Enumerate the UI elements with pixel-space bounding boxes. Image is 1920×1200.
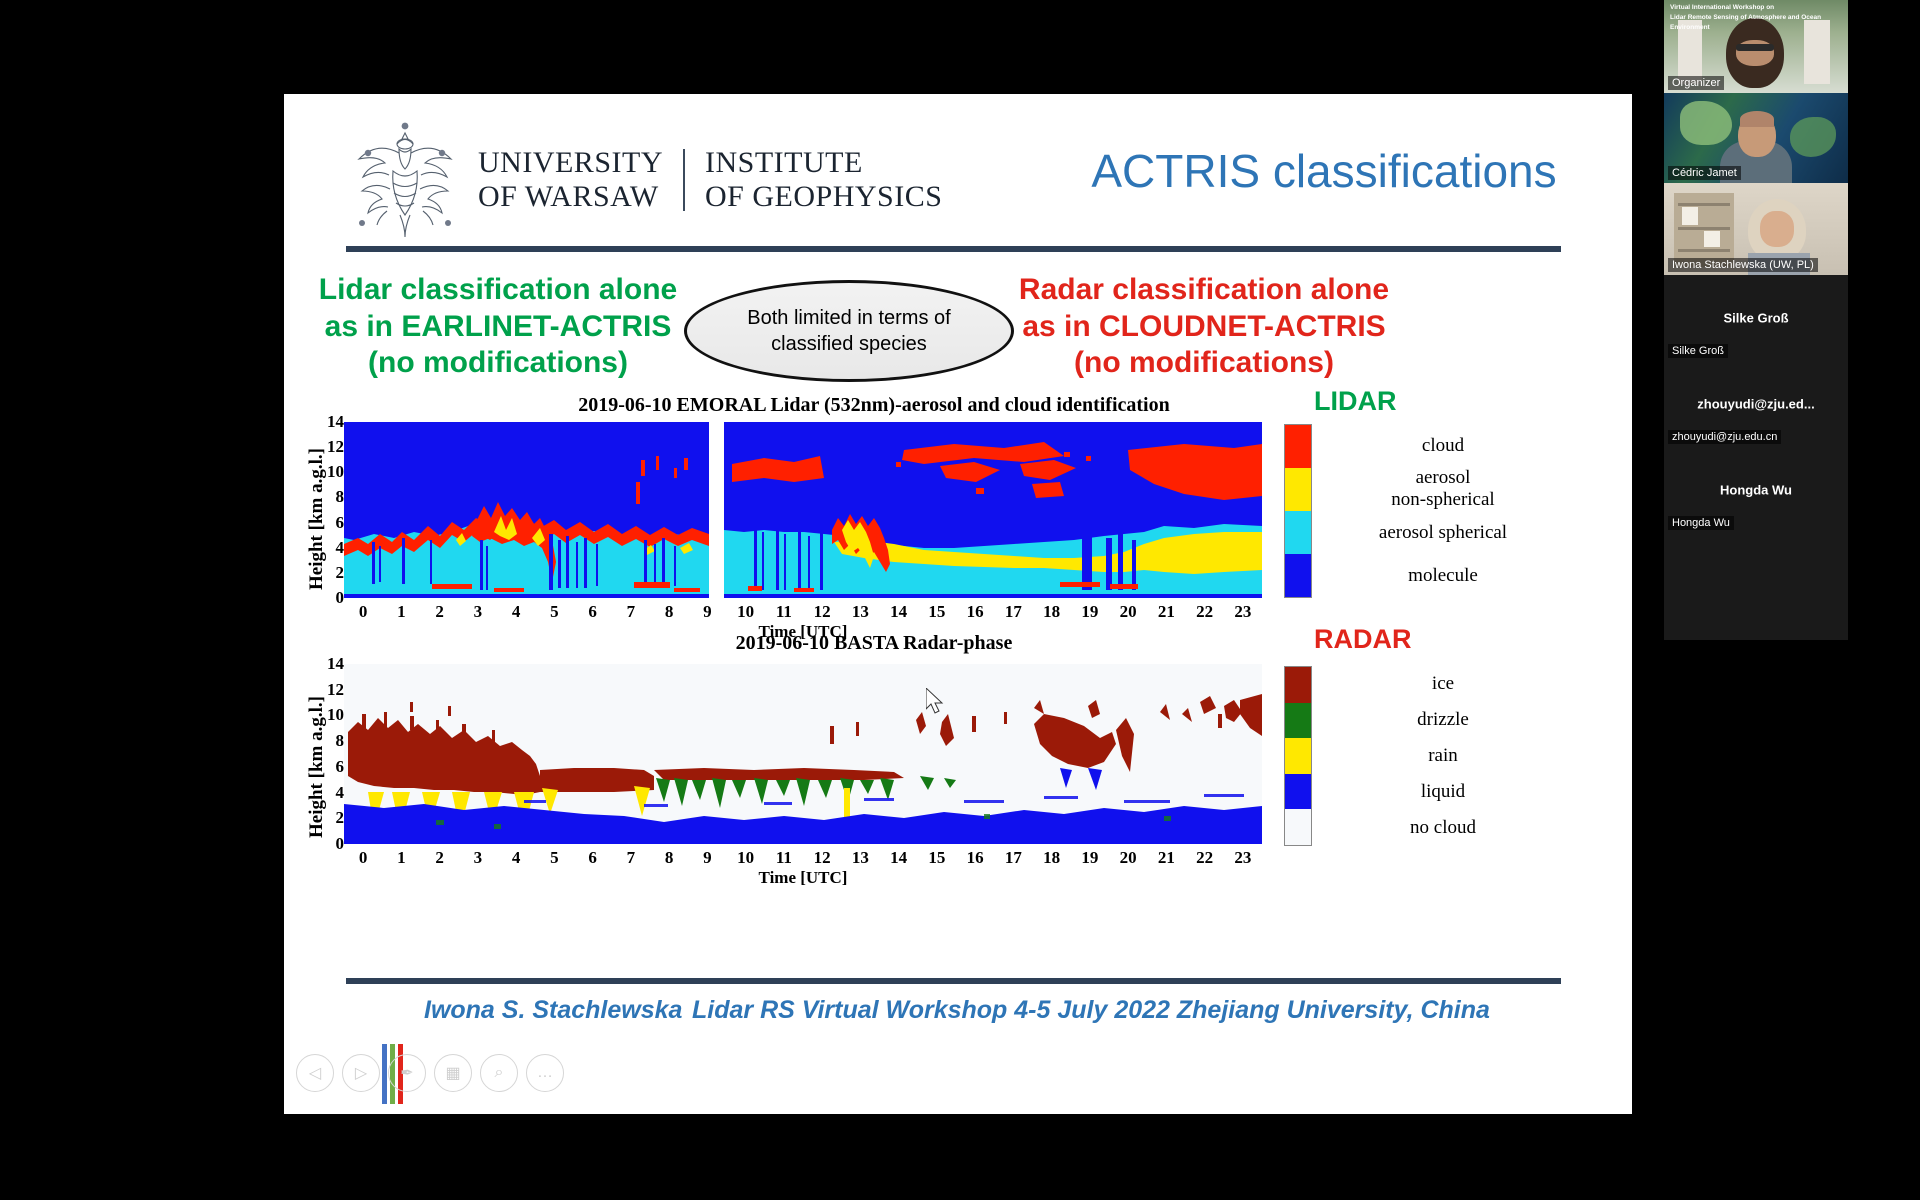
x-tick: 1 [397, 602, 406, 622]
x-tick: 22 [1196, 848, 1213, 868]
lidar-legend: cloudaerosol non-sphericalaerosol spheri… [1318, 424, 1618, 598]
y-tick: 0 [336, 834, 345, 854]
lidar-figure: 2019-06-10 EMORAL Lidar (532nm)-aerosol … [284, 394, 1632, 634]
presentation-slide[interactable]: UNIVERSITY OF WARSAW INSTITUTE OF GEOPHY… [284, 94, 1632, 1114]
colorbar-swatch [1285, 511, 1311, 554]
radar-sensor-label: RADAR [1314, 624, 1412, 655]
x-tick: 14 [890, 602, 907, 622]
x-tick: 1 [397, 848, 406, 868]
legend-label: drizzle [1318, 709, 1568, 731]
next-slide-button[interactable]: ▷ [342, 1054, 380, 1092]
video-tile-name: Organizer [1668, 76, 1724, 90]
footer-author: Iwona S. Stachlewska [424, 996, 682, 1025]
y-tick: 6 [336, 513, 345, 533]
x-tick: 7 [627, 602, 636, 622]
video-tile-center-name: Silke Groß [1664, 311, 1848, 326]
header-rule [346, 246, 1561, 252]
x-tick: 9 [703, 848, 712, 868]
colorbar-swatch [1285, 468, 1311, 511]
x-tick: 4 [512, 602, 521, 622]
x-tick: 23 [1234, 848, 1251, 868]
legend-label: molecule [1318, 565, 1568, 587]
radar-figure: 2019-06-10 BASTA Radar-phase Height [km … [284, 632, 1632, 882]
video-tile-name: Iwona Stachlewska (UW, PL) [1668, 258, 1818, 272]
more-options-button[interactable]: … [526, 1054, 564, 1092]
lidar-plot-left [344, 422, 709, 598]
x-tick: 19 [1081, 848, 1098, 868]
x-tick: 20 [1120, 602, 1137, 622]
limitation-callout: Both limited in terms of classified spec… [684, 280, 1014, 382]
radar-heading: Radar classification alone as in CLOUDNE… [984, 272, 1424, 382]
video-tile-center-name: Hongda Wu [1664, 483, 1848, 498]
logo-university-line2: OF WARSAW [478, 180, 663, 214]
y-tick: 6 [336, 757, 345, 777]
lidar-colorbar [1284, 424, 1312, 598]
x-tick: 21 [1158, 602, 1175, 622]
logo-institute-line2: OF GEOPHYSICS [705, 180, 942, 214]
legend-label: ice [1318, 673, 1568, 695]
legend-label: rain [1318, 745, 1568, 767]
y-tick: 4 [336, 783, 345, 803]
video-tile-name: Cédric Jamet [1668, 166, 1741, 180]
legend-label: aerosol spherical [1318, 522, 1568, 544]
colorbar-swatch [1285, 703, 1311, 739]
x-tick: 17 [1005, 848, 1022, 868]
x-tick: 13 [852, 602, 869, 622]
y-tick: 14 [327, 654, 344, 674]
zoom-tool-button[interactable]: ⌕ [480, 1054, 518, 1092]
video-tile-cedric-jamet[interactable]: Cédric Jamet [1664, 93, 1848, 183]
x-tick: 11 [776, 602, 792, 622]
video-tile-center-name: zhouyudi@zju.ed... [1664, 397, 1848, 412]
radar-y-ticks: 02468101214 [302, 664, 344, 844]
colorbar-swatch [1285, 667, 1311, 703]
video-tile-silke-gross[interactable]: Silke Groß Silke Groß [1664, 275, 1848, 361]
x-tick: 14 [890, 848, 907, 868]
video-tile-iwona-stachlewska[interactable]: Iwona Stachlewska (UW, PL) [1664, 183, 1848, 275]
x-tick: 13 [852, 848, 869, 868]
video-tile-hongda-wu[interactable]: Hongda Wu Hongda Wu [1664, 447, 1848, 533]
x-tick: 22 [1196, 602, 1213, 622]
logo-university-line1: UNIVERSITY [478, 146, 663, 180]
x-tick: 0 [359, 848, 368, 868]
y-tick: 12 [327, 680, 344, 700]
x-tick: 15 [928, 848, 945, 868]
x-tick: 10 [737, 602, 754, 622]
previous-slide-button[interactable]: ◁ [296, 1054, 334, 1092]
colorbar-swatch [1285, 774, 1311, 810]
y-tick: 8 [336, 731, 345, 751]
colorbar-swatch [1285, 809, 1311, 845]
y-tick: 12 [327, 437, 344, 457]
legend-label: liquid [1318, 781, 1568, 803]
video-rail: Virtual International Workshop on Lidar … [1664, 0, 1848, 640]
footer-event: Lidar RS Virtual Workshop 4-5 July 2022 … [692, 996, 1490, 1025]
radar-plot [344, 664, 1262, 844]
y-tick: 8 [336, 487, 345, 507]
y-tick: 4 [336, 538, 345, 558]
video-tile-name: Silke Groß [1668, 344, 1728, 358]
y-tick: 2 [336, 808, 345, 828]
x-tick: 23 [1234, 602, 1251, 622]
x-tick: 9 [703, 602, 712, 622]
university-logo: UNIVERSITY OF WARSAW INSTITUTE OF GEOPHY… [346, 116, 946, 244]
radar-chart-title: 2019-06-10 BASTA Radar-phase [404, 632, 1344, 655]
x-tick: 12 [814, 848, 831, 868]
y-tick: 0 [336, 588, 345, 608]
colorbar-swatch [1285, 738, 1311, 774]
x-tick: 0 [359, 602, 368, 622]
x-tick: 2 [435, 848, 444, 868]
video-tile-name: zhouyudi@zju.edu.cn [1668, 430, 1781, 444]
logo-institute-line1: INSTITUTE [705, 146, 942, 180]
x-tick: 12 [814, 602, 831, 622]
x-tick: 15 [928, 602, 945, 622]
lidar-sensor-label: LIDAR [1314, 386, 1397, 417]
y-tick: 14 [327, 412, 344, 432]
x-tick: 21 [1158, 848, 1175, 868]
x-tick: 8 [665, 602, 674, 622]
x-tick: 10 [737, 848, 754, 868]
legend-label: aerosol non-spherical [1318, 467, 1568, 511]
lidar-x-ticks: 01234567891011121314151617181920212223 [344, 602, 1262, 624]
university-crest-icon [346, 119, 464, 241]
x-tick: 3 [474, 848, 483, 868]
y-tick: 10 [327, 462, 344, 482]
x-tick: 5 [550, 848, 559, 868]
y-tick: 10 [327, 705, 344, 725]
video-tile-zhouyudi[interactable]: zhouyudi@zju.ed... zhouyudi@zju.edu.cn [1664, 361, 1848, 447]
radar-x-axis-label: Time [UTC] [344, 868, 1262, 888]
x-tick: 2 [435, 602, 444, 622]
x-tick: 18 [1043, 602, 1060, 622]
mouse-cursor [926, 688, 948, 718]
colorbar-swatch [1285, 554, 1311, 597]
x-tick: 6 [588, 848, 597, 868]
page-title: ACTRIS classifications [1044, 144, 1604, 198]
y-tick: 2 [336, 563, 345, 583]
video-banner-text: Virtual International Workshop on Lidar … [1670, 3, 1848, 32]
all-slides-button[interactable]: ▦ [434, 1054, 472, 1092]
lidar-chart-title: 2019-06-10 EMORAL Lidar (532nm)-aerosol … [404, 394, 1344, 417]
x-tick: 16 [967, 848, 984, 868]
x-tick: 18 [1043, 848, 1060, 868]
footer-rule [346, 978, 1561, 984]
legend-label: no cloud [1318, 817, 1568, 839]
pen-tool-button[interactable]: ✒ [388, 1054, 426, 1092]
x-tick: 19 [1081, 602, 1098, 622]
x-tick: 6 [588, 602, 597, 622]
lidar-heading: Lidar classification alone as in EARLINE… [284, 272, 718, 382]
x-tick: 4 [512, 848, 521, 868]
x-tick: 16 [967, 602, 984, 622]
x-tick: 8 [665, 848, 674, 868]
screen: UNIVERSITY OF WARSAW INSTITUTE OF GEOPHY… [0, 0, 1920, 1200]
video-tile-organizer[interactable]: Virtual International Workshop on Lidar … [1664, 0, 1848, 93]
video-tile-name: Hongda Wu [1668, 516, 1734, 530]
radar-legend: icedrizzlerainliquidno cloud [1318, 666, 1618, 846]
legend-label: cloud [1318, 435, 1568, 457]
radar-colorbar [1284, 666, 1312, 846]
x-tick: 3 [474, 602, 483, 622]
radar-x-ticks: 01234567891011121314151617181920212223 [344, 848, 1262, 870]
lidar-plot-right [724, 422, 1262, 598]
x-tick: 11 [776, 848, 792, 868]
logo-divider [683, 149, 685, 211]
x-tick: 7 [627, 848, 636, 868]
x-tick: 17 [1005, 602, 1022, 622]
lidar-y-ticks: 02468101214 [302, 422, 344, 598]
x-tick: 20 [1120, 848, 1137, 868]
x-tick: 5 [550, 602, 559, 622]
colorbar-swatch [1285, 425, 1311, 468]
